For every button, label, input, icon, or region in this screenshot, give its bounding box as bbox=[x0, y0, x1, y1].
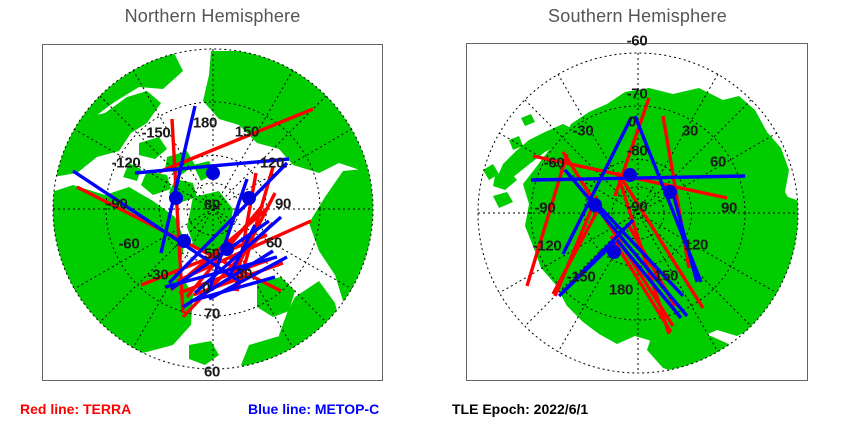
graticule-label: 80 bbox=[204, 197, 220, 214]
graticule-label: -30 bbox=[148, 267, 169, 284]
figure-legend: Red line: TERRA Blue line: METOP-C TLE E… bbox=[0, 390, 850, 425]
graticule-label: 60 bbox=[204, 364, 220, 381]
marker-dot bbox=[663, 185, 677, 199]
figure-canvas: Northern Hemisphere bbox=[0, 0, 850, 425]
graticule-label: -90 bbox=[107, 196, 128, 213]
marker-dot bbox=[623, 168, 637, 182]
graticule-label: 150 bbox=[235, 124, 259, 141]
graticule-label: 30 bbox=[682, 123, 698, 140]
graticule-label: -70 bbox=[627, 86, 648, 103]
graticule-label: 30 bbox=[236, 266, 252, 283]
marker-dot bbox=[220, 242, 234, 256]
marker-dot bbox=[206, 166, 220, 180]
graticule-label: -90 bbox=[627, 199, 648, 216]
graticule-label: -80 bbox=[627, 143, 648, 160]
graticule-label: 180 bbox=[193, 115, 217, 132]
marker-dot bbox=[588, 198, 602, 212]
graticule-label: 60 bbox=[710, 154, 726, 171]
graticule-label: -90 bbox=[535, 200, 556, 217]
panel-title-south: Southern Hemisphere bbox=[425, 6, 850, 27]
legend-metopc: Blue line: METOP-C bbox=[248, 401, 379, 417]
graticule-label: -150 bbox=[567, 269, 596, 286]
graticule-label: 60 bbox=[266, 235, 282, 252]
graticule-label: -60 bbox=[627, 33, 648, 50]
panel-southern-hemisphere: Southern Hemisphere bbox=[425, 0, 850, 390]
graticule-label: -120 bbox=[112, 155, 141, 172]
graticule-label: -30 bbox=[573, 123, 594, 140]
graticule-label: 120 bbox=[684, 237, 708, 254]
graticule-label: 50 bbox=[204, 246, 220, 263]
graticule-label: -60 bbox=[544, 155, 565, 172]
marker-dot bbox=[177, 234, 191, 248]
graticule-label: 70 bbox=[204, 306, 220, 323]
panel-northern-hemisphere: Northern Hemisphere bbox=[0, 0, 425, 390]
graticule-label: 150 bbox=[654, 268, 678, 285]
graticule-label: 180 bbox=[609, 282, 633, 299]
graticule-label: -150 bbox=[142, 125, 171, 142]
graticule-label: -60 bbox=[119, 236, 140, 253]
graticule-label: 90 bbox=[275, 196, 291, 213]
graticule-label: -120 bbox=[533, 238, 562, 255]
panel-title-north: Northern Hemisphere bbox=[0, 6, 425, 27]
legend-tle-epoch: TLE Epoch: 2022/6/1 bbox=[452, 401, 588, 417]
graticule-label: 90 bbox=[721, 200, 737, 217]
legend-terra: Red line: TERRA bbox=[20, 401, 131, 417]
marker-dot bbox=[607, 245, 621, 259]
graticule-label: 120 bbox=[260, 155, 284, 172]
graticule-label: 0 bbox=[628, 114, 636, 131]
marker-dot bbox=[169, 191, 183, 205]
marker-dot bbox=[242, 191, 256, 205]
graticule-label: 0 bbox=[202, 280, 210, 297]
